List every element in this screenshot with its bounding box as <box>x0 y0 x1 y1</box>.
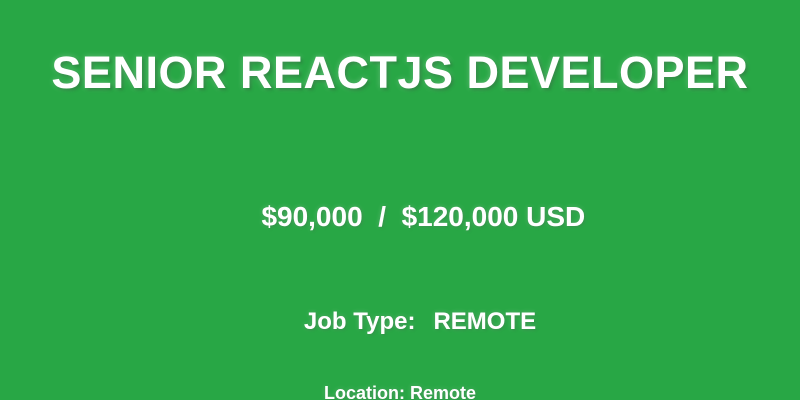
salary-min: $90,000 <box>261 201 362 232</box>
page-title: SENIOR REACTJS DEVELOPER <box>0 50 800 96</box>
job-type-row: Job Type:REMOTE <box>264 280 536 364</box>
salary-separator: / <box>378 201 386 232</box>
job-type-value: REMOTE <box>433 308 536 335</box>
job-details: $90,000 / $120,000 USD Job Type:REMOTE L… <box>0 166 800 400</box>
salary-range: $90,000 / $120,000 USD <box>215 166 586 268</box>
salary-spacer-left <box>363 201 379 232</box>
location-text: Location: Remote <box>324 382 476 400</box>
salary-spacer-right <box>386 201 402 232</box>
job-posting-card: SENIOR REACTJS DEVELOPER $90,000 / $120,… <box>0 0 800 400</box>
salary-max: $120,000 USD <box>402 201 586 232</box>
job-type-label: Job Type: <box>304 308 416 335</box>
